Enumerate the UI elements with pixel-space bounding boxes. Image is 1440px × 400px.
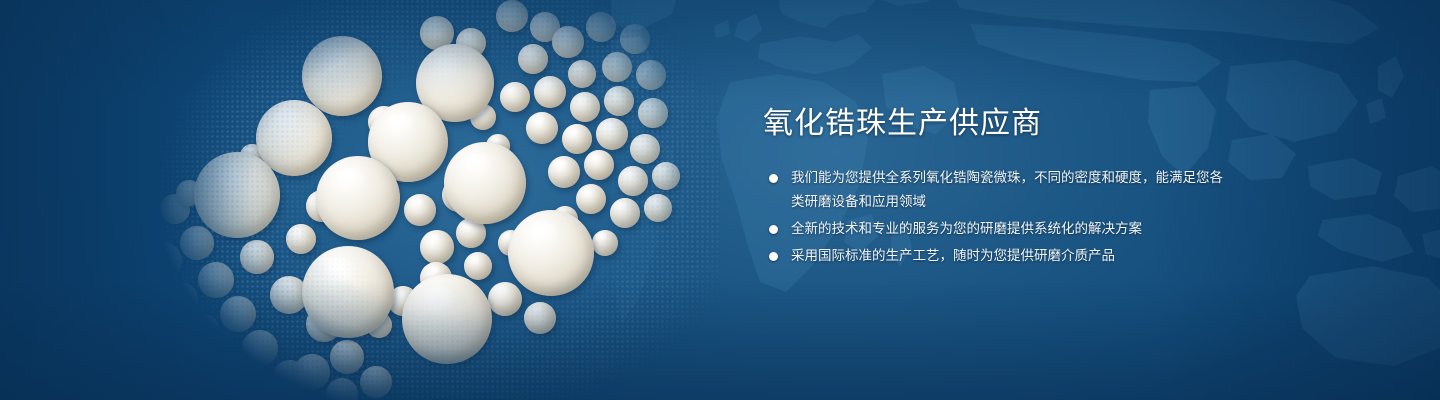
- halftone-dot-overlay: [120, 0, 720, 400]
- list-item-label: 我们能为您提供全系列氧化锆陶瓷微珠，不同的密度和硬度，能满足您各类研磨设备和应用…: [791, 166, 1233, 214]
- page-title: 氧化锆珠生产供应商: [763, 104, 1233, 144]
- zirconia-beads-image: [120, 0, 720, 400]
- hero-banner: 氧化锆珠生产供应商 我们能为您提供全系列氧化锆陶瓷微珠，不同的密度和硬度，能满足…: [0, 0, 1440, 400]
- bullet-dot-icon: [769, 225, 778, 234]
- list-item-label: 全新的技术和专业的服务为您的研磨提供系统化的解决方案: [791, 217, 1233, 241]
- bullet-dot-icon: [769, 174, 778, 183]
- list-item-label: 采用国际标准的生产工艺，随时为您提供研磨介质产品: [791, 244, 1233, 268]
- list-item: 全新的技术和专业的服务为您的研磨提供系统化的解决方案: [763, 217, 1233, 241]
- bullet-dot-icon: [769, 252, 778, 261]
- list-item: 采用国际标准的生产工艺，随时为您提供研磨介质产品: [763, 244, 1233, 268]
- list-item: 我们能为您提供全系列氧化锆陶瓷微珠，不同的密度和硬度，能满足您各类研磨设备和应用…: [763, 166, 1233, 214]
- banner-copy: 氧化锆珠生产供应商 我们能为您提供全系列氧化锆陶瓷微珠，不同的密度和硬度，能满足…: [763, 104, 1233, 271]
- feature-list: 我们能为您提供全系列氧化锆陶瓷微珠，不同的密度和硬度，能满足您各类研磨设备和应用…: [763, 166, 1233, 268]
